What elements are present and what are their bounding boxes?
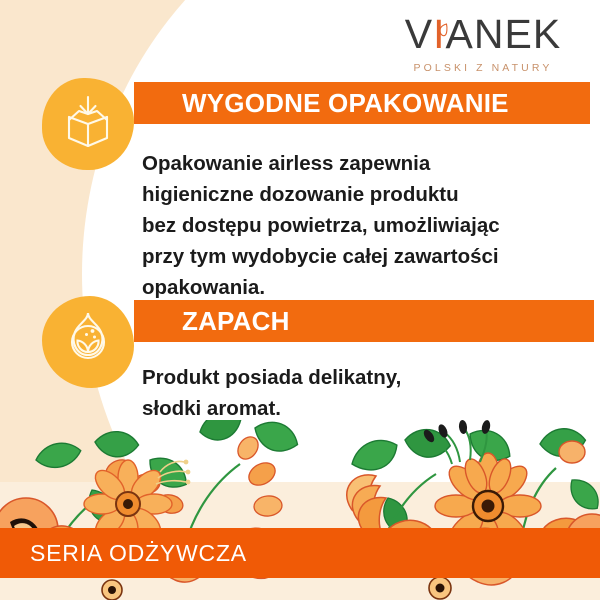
feature-title-packaging: WYGODNE OPAKOWANIE [182, 88, 509, 119]
brand-logo: VIANEK POLSKI Z NATURY [388, 14, 578, 74]
feature-body-scent: Produkt posiada delikatny, słodki aromat… [142, 362, 562, 424]
droplet-with-leaves-glyph [56, 310, 120, 374]
series-bar: SERIA ODŻYWCZA [0, 528, 600, 578]
logo-wordmark: VIANEK [388, 14, 578, 55]
logo-letters-anek: ANEK [446, 11, 562, 57]
logo-letter-v: V [405, 11, 433, 57]
flower-curled-right [347, 475, 386, 535]
feature-body-packaging: Opakowanie airless zapewnia higieniczne … [142, 148, 562, 303]
logo-tagline: POLSKI Z NATURY [388, 62, 578, 74]
box-with-down-arrow-icon [42, 78, 134, 170]
feature-block-packaging: WYGODNE OPAKOWANIE [42, 78, 562, 128]
feature-block-scent: ZAPACH [42, 296, 562, 346]
box-with-down-arrow-glyph [57, 93, 119, 155]
feature-title-scent: ZAPACH [182, 306, 290, 337]
promo-graphic: VIANEK POLSKI Z NATURY WYGODNE OPAKOWANI… [0, 0, 600, 600]
logo-leaf-icon [437, 23, 448, 38]
feature-banner-scent: ZAPACH [134, 300, 594, 342]
droplet-with-leaves-icon [42, 296, 134, 388]
feature-banner-packaging: WYGODNE OPAKOWANIE [134, 82, 590, 124]
series-label: SERIA ODŻYWCZA [30, 540, 247, 567]
logo-letter-i: I [433, 14, 445, 55]
